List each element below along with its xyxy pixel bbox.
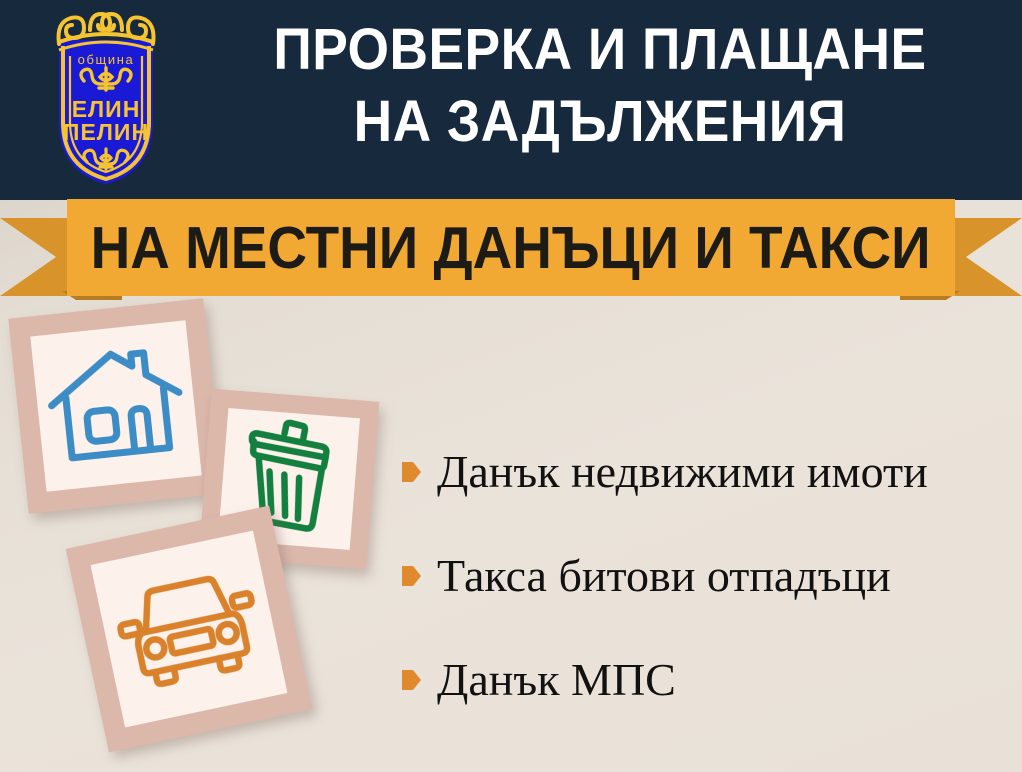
poster-root: община ЕЛИН ПЕЛИН xyxy=(0,0,1022,772)
list-item[interactable]: Такса битови отпадъци xyxy=(402,524,1012,628)
stamp-card-vehicle xyxy=(66,506,313,753)
page-title: ПРОВЕРКА И ПЛАЩАНЕ НА ЗАДЪЛЖЕНИЯ xyxy=(190,14,1010,158)
list-item-label: Данък МПС xyxy=(437,654,676,706)
arrow-bullet-icon xyxy=(402,565,421,587)
crest-icon: община ЕЛИН ПЕЛИН xyxy=(26,4,186,192)
stamp-frame-icon xyxy=(66,506,313,753)
crest-small-text: община xyxy=(78,52,135,67)
ribbon-panel: НА МЕСТНИ ДАНЪЦИ И ТАКСИ xyxy=(67,199,955,296)
list-item[interactable]: Данък недвижими имоти xyxy=(402,420,1012,524)
arrow-bullet-icon xyxy=(402,461,421,483)
crest-name-line2: ПЕЛИН xyxy=(63,119,149,145)
list-item-label: Такса битови отпадъци xyxy=(437,550,891,602)
stamp-card-property xyxy=(8,298,223,513)
title-line-2: НА ЗАДЪЛЖЕНИЯ xyxy=(223,86,977,158)
stamp-collage xyxy=(0,300,420,772)
stamp-frame-icon xyxy=(8,298,223,513)
municipality-logo: община ЕЛИН ПЕЛИН xyxy=(26,4,186,192)
tax-type-list: Данък недвижими имоти Такса битови отпад… xyxy=(402,420,1012,732)
arrow-bullet-icon xyxy=(402,669,421,691)
list-item[interactable]: Данък МПС xyxy=(402,628,1012,732)
title-line-1: ПРОВЕРКА И ПЛАЩАНЕ xyxy=(223,14,977,86)
list-item-label: Данък недвижими имоти xyxy=(437,446,928,498)
ribbon-banner: НА МЕСТНИ ДАНЪЦИ И ТАКСИ xyxy=(0,199,1022,311)
poster-header: община ЕЛИН ПЕЛИН xyxy=(0,0,1022,200)
ribbon-label: НА МЕСТНИ ДАНЪЦИ И ТАКСИ xyxy=(91,218,931,278)
